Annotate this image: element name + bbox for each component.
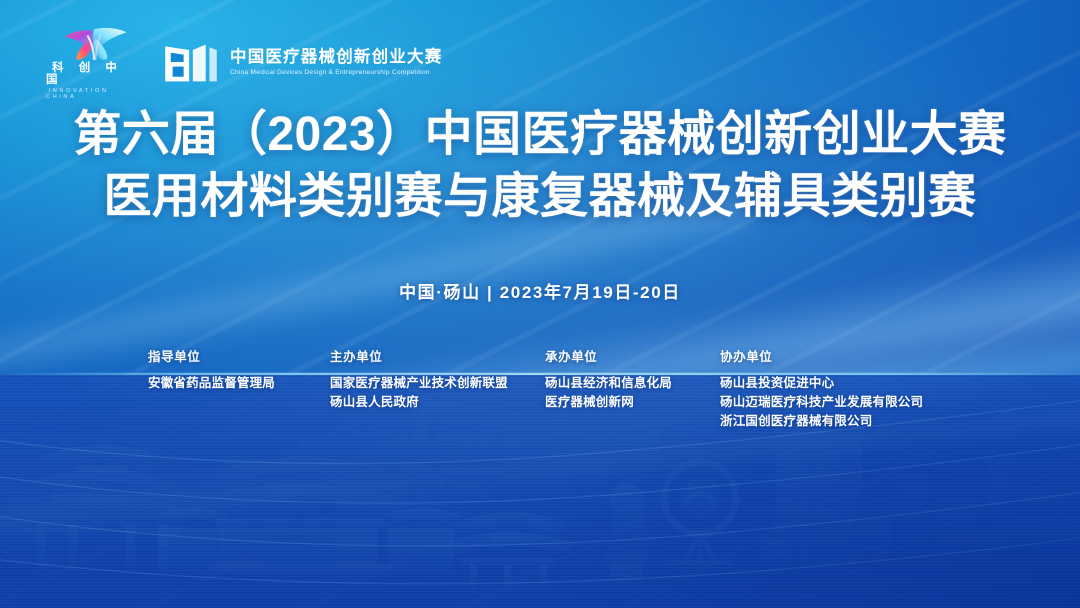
- phoenix-bird-icon: [55, 24, 133, 60]
- sponsor-item: 国家医疗器械产业技术创新联盟: [330, 374, 545, 393]
- sponsor-item: 砀山县经济和信息化局: [545, 374, 720, 393]
- sponsor-column-cohost: 协办单位 砀山县投资促进中心 砀山迈瑞医疗科技产业发展有限公司 浙江国创医疗器械…: [720, 346, 990, 431]
- location-date-line: 中国·砀山 | 2023年7月19日-20日: [0, 278, 1080, 303]
- cmdc-logo-en: China Medical Devices Design & Entrepren…: [230, 69, 442, 76]
- sponsor-item: 砀山县人民政府: [330, 393, 545, 412]
- sponsor-heading: 协办单位: [720, 346, 990, 365]
- kechuang-logo-cn: 科 创 中 国: [46, 63, 141, 86]
- sponsor-column-host: 承办单位 砀山县经济和信息化局 医疗器械创新网: [545, 346, 720, 412]
- sponsor-heading: 主办单位: [330, 346, 545, 365]
- event-banner: 科 创 中 国 INNOVATION CHINA 中国医疗器械创新创业大赛 Ch…: [0, 0, 1080, 608]
- sponsor-item: 砀山县投资促进中心: [720, 374, 990, 393]
- sponsor-columns: 指导单位 安徽省药品监督管理局 主办单位 国家医疗器械产业技术创新联盟 砀山县人…: [148, 346, 1008, 431]
- sponsor-column-organizer: 主办单位 国家医疗器械产业技术创新联盟 砀山县人民政府: [330, 346, 545, 412]
- sponsor-item: 砀山迈瑞医疗科技产业发展有限公司: [720, 393, 990, 412]
- sponsor-item: 浙江国创医疗器械有限公司: [720, 412, 990, 431]
- cmdc-logo-cn: 中国医疗器械创新创业大赛: [230, 48, 442, 66]
- kechuang-zhongguo-logo: 科 创 中 国 INNOVATION CHINA: [46, 24, 141, 100]
- main-title: 第六届（2023）中国医疗器械创新创业大赛 医用材料类别赛与康复器械及辅具类别赛: [0, 104, 1080, 228]
- sponsor-item: 安徽省药品监督管理局: [148, 374, 330, 393]
- cmdc-competition-logo: 中国医疗器械创新创业大赛 China Medical Devices Desig…: [163, 39, 442, 85]
- sponsor-heading: 承办单位: [545, 346, 720, 365]
- sponsor-column-guidance: 指导单位 安徽省药品监督管理局: [148, 346, 330, 393]
- title-line-2: 医用材料类别赛与康复器械及辅具类别赛: [0, 166, 1080, 228]
- title-line-1: 第六届（2023）中国医疗器械创新创业大赛: [0, 104, 1080, 166]
- open-book-door-icon: [163, 39, 219, 85]
- header-logos: 科 创 中 国 INNOVATION CHINA 中国医疗器械创新创业大赛 Ch…: [46, 24, 442, 100]
- sponsor-heading: 指导单位: [148, 346, 330, 365]
- kechuang-logo-en: INNOVATION CHINA: [46, 89, 141, 100]
- sponsor-item: 医疗器械创新网: [545, 393, 720, 412]
